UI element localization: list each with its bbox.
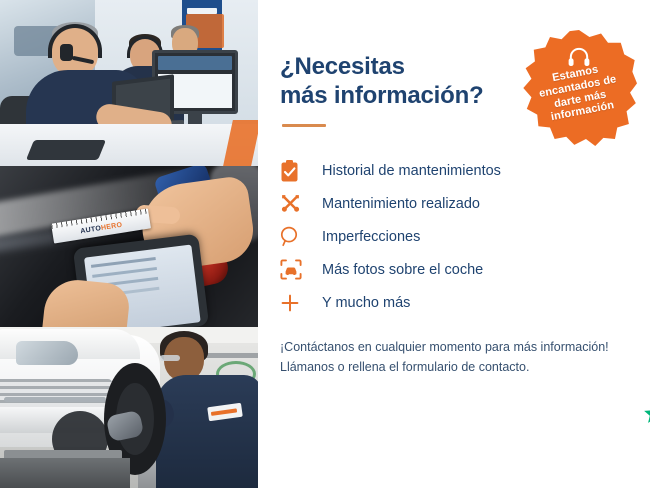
desk-tablet bbox=[26, 140, 106, 160]
trustpilot-logo[interactable]: Trustpilot bbox=[643, 402, 650, 425]
car-chrome-trim bbox=[4, 397, 106, 402]
car-focus-icon bbox=[280, 259, 310, 280]
crossed-tools-icon bbox=[280, 193, 310, 214]
ruler-text-auto: AUTO bbox=[80, 225, 102, 235]
contact-text: ¡Contáctanos en cualquier momento para m… bbox=[280, 337, 630, 378]
feature-label: Mantenimiento realizado bbox=[322, 196, 480, 212]
mechanic-wheel-inspection-photo bbox=[0, 327, 258, 488]
car-inspection-ruler-photo: AUTOHERO bbox=[0, 166, 258, 327]
mechanic-body bbox=[156, 375, 258, 488]
headline-line-2: más información? bbox=[280, 82, 484, 109]
call-center-agents-photo bbox=[0, 0, 258, 166]
feature-label: Y mucho más bbox=[322, 295, 410, 311]
headset-icon bbox=[568, 47, 590, 67]
feature-item-historial: Historial de mantenimientos bbox=[280, 155, 650, 187]
feature-list: Historial de mantenimientos M bbox=[280, 155, 650, 319]
feature-item-imperfecciones: Imperfecciones bbox=[280, 221, 650, 253]
car-headlight bbox=[16, 341, 78, 365]
feature-item-fotos: Más fotos sobre el coche bbox=[280, 254, 650, 286]
feature-item-mas: Y mucho más bbox=[280, 287, 650, 319]
clipboard-check-icon bbox=[280, 160, 310, 182]
headline-line-1: ¿Necesitas bbox=[280, 53, 405, 80]
car-lift-platform bbox=[0, 458, 130, 488]
feature-label: Imperfecciones bbox=[322, 229, 420, 245]
feature-label: Historial de mantenimientos bbox=[322, 163, 501, 179]
promo-badge: Estamos encantados de darte más informac… bbox=[521, 30, 637, 146]
feature-item-mantenimiento: Mantenimiento realizado bbox=[280, 188, 650, 220]
more-info-promo-card: AUTOHERO bbox=[0, 0, 650, 488]
content-panel: ¿Necesitas más información? Estamos enca… bbox=[258, 0, 650, 488]
ruler-text-hero: HERO bbox=[101, 221, 123, 231]
contact-line-2: Llámanos o rellena el formulario de cont… bbox=[280, 360, 529, 374]
trustpilot-star-icon bbox=[643, 402, 650, 425]
photo-column: AUTOHERO bbox=[0, 0, 258, 488]
headline-divider bbox=[282, 124, 326, 127]
contact-line-1: ¡Contáctanos en cualquier momento para m… bbox=[280, 340, 609, 354]
car-grille bbox=[0, 379, 112, 407]
safety-glasses-icon bbox=[160, 355, 180, 361]
page-title: ¿Necesitas más información? bbox=[280, 52, 510, 111]
trustpilot-widget[interactable]: Trustpilot Excelente bbox=[643, 388, 650, 440]
feature-label: Más fotos sobre el coche bbox=[322, 262, 483, 278]
magnifier-icon bbox=[280, 226, 310, 247]
plus-icon bbox=[280, 293, 310, 313]
